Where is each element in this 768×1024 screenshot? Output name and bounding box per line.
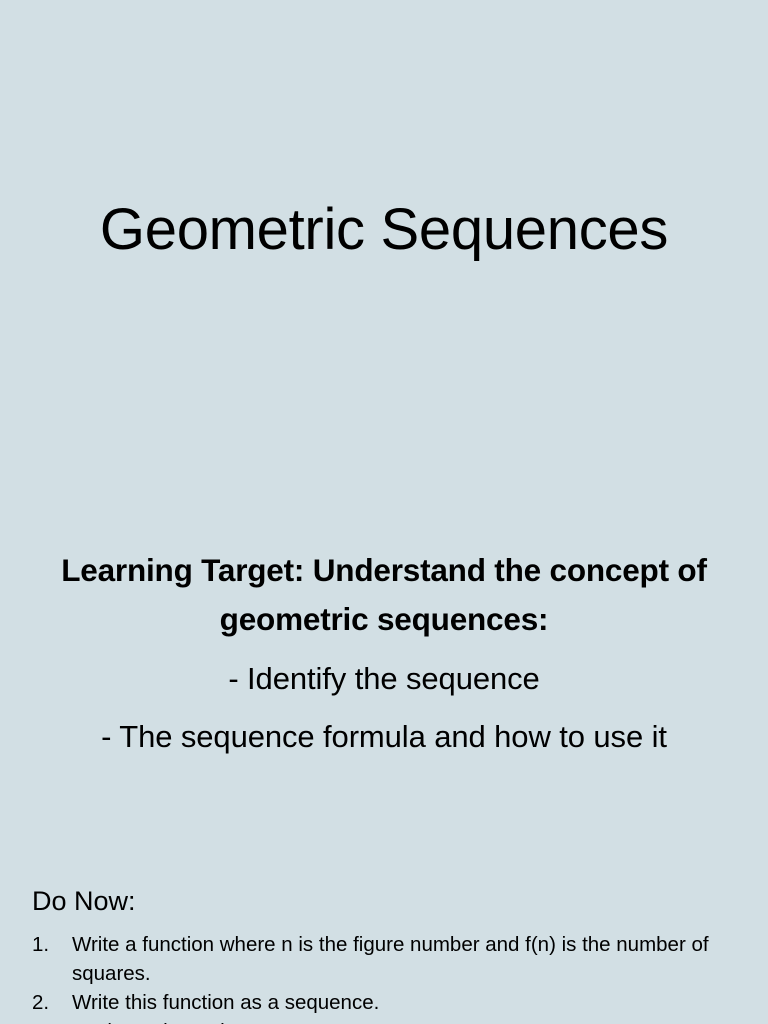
list-item-text: Write a function where n is the figure n…: [72, 930, 732, 988]
learning-target-block: Learning Target: Understand the concept …: [26, 546, 742, 766]
list-item-text: Write this function as a sequence.: [72, 988, 732, 1017]
list-item: 3. Evaluate the 10th term: [32, 1017, 732, 1024]
list-item-marker: 3.: [32, 1017, 62, 1024]
list-item-text: Evaluate the 10th term: [72, 1017, 732, 1024]
page-title: Geometric Sequences: [0, 199, 768, 262]
learning-target-heading: Learning Target: Understand the concept …: [26, 546, 742, 644]
do-now-block: Do Now: 1. Write a function where n is t…: [32, 886, 732, 1024]
learning-target-bullet-formula: - The sequence formula and how to use it: [26, 708, 742, 766]
list-item: 1. Write a function where n is the figur…: [32, 930, 732, 988]
do-now-list: 1. Write a function where n is the figur…: [32, 930, 732, 1024]
list-item: 2. Write this function as a sequence.: [32, 988, 732, 1017]
list-item-marker: 1.: [32, 930, 62, 959]
learning-target-bullet-identify: - Identify the sequence: [26, 650, 742, 708]
slide-canvas: Geometric Sequences Learning Target: Und…: [0, 0, 768, 1024]
do-now-heading: Do Now:: [32, 886, 732, 918]
list-item-marker: 2.: [32, 988, 62, 1017]
